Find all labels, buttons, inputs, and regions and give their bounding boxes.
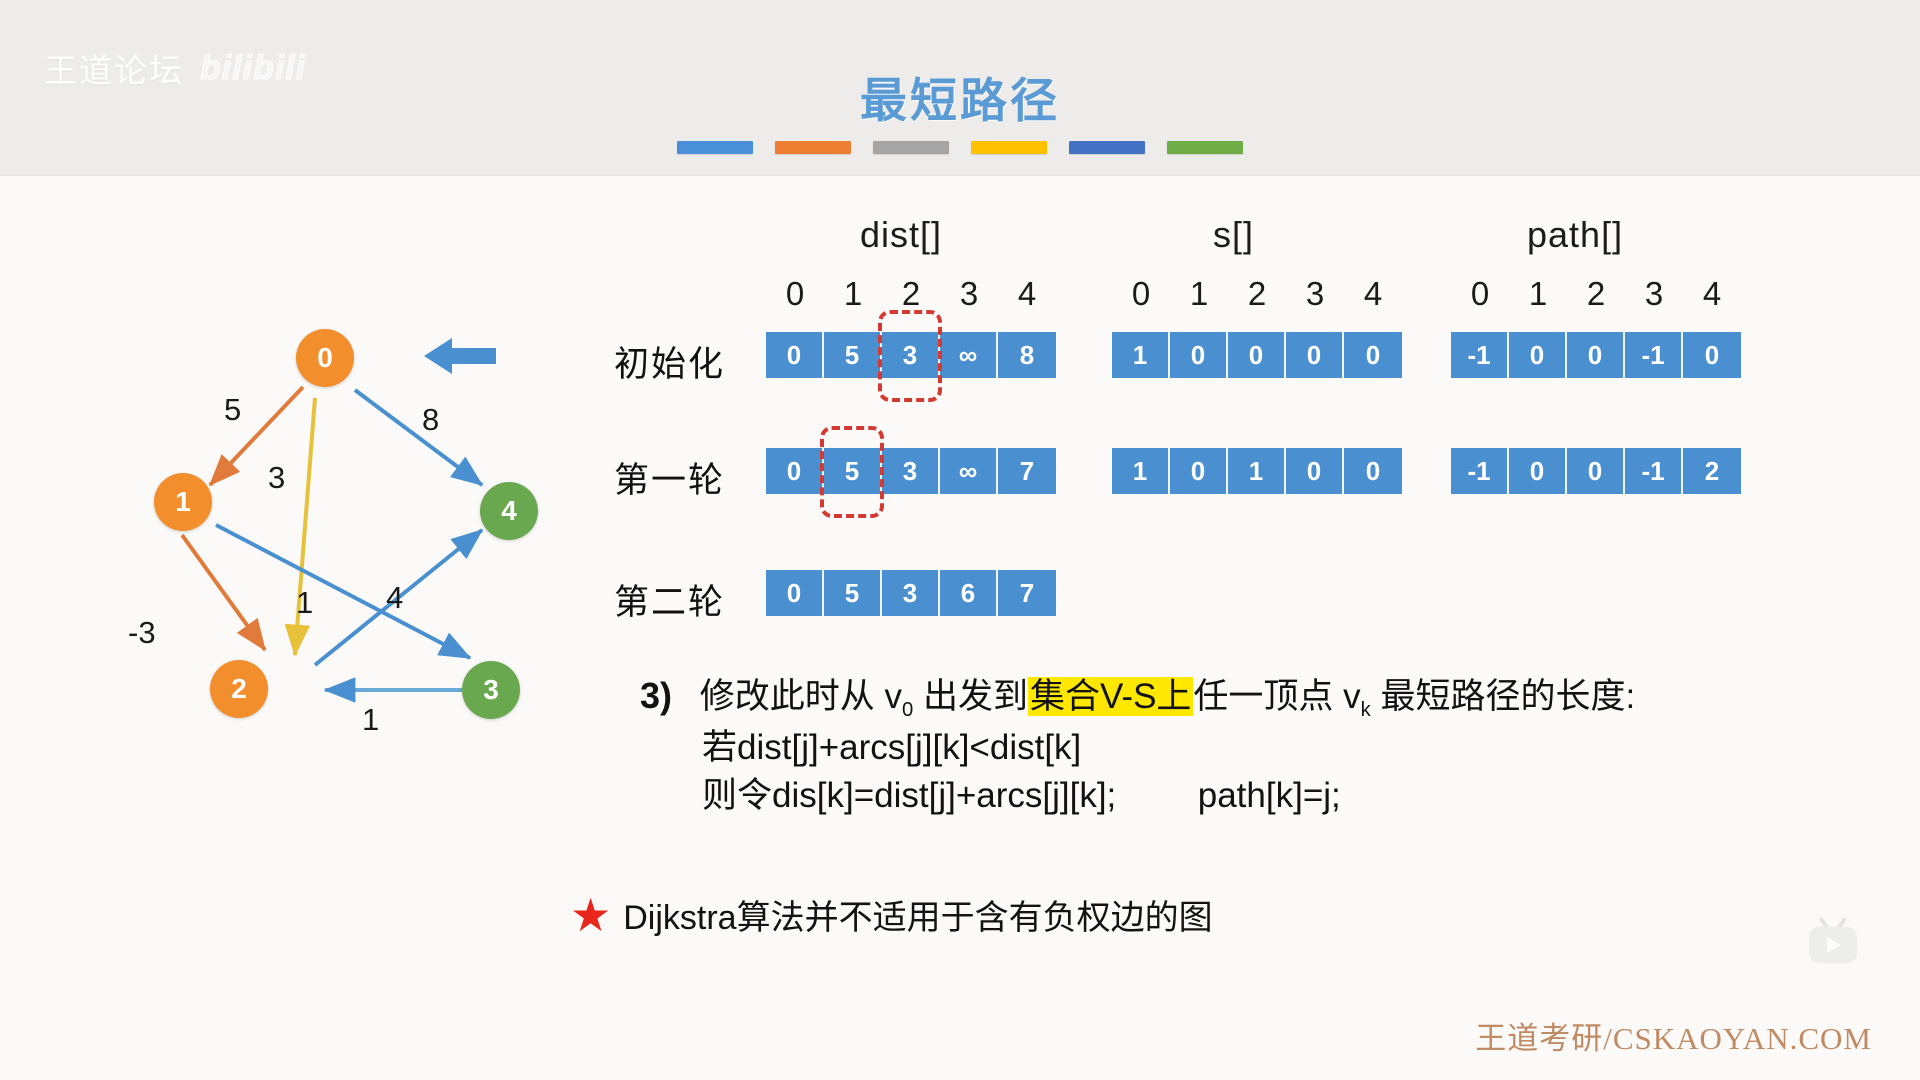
graph-node-1-label: 1 (175, 486, 191, 518)
s-row-round1: 1 0 1 0 0 (1112, 448, 1402, 494)
index-row-s: 0 1 2 3 4 (1112, 275, 1402, 313)
row-label-round2: 第二轮 (614, 574, 725, 625)
graph-node-3-label: 3 (483, 674, 499, 706)
bilibili-play-icon (1802, 914, 1864, 970)
s-round1-cell-0: 1 (1112, 448, 1170, 494)
dist-row-round1: 0 5 3 ∞ 7 (766, 448, 1056, 494)
path-init-cell-3: -1 (1625, 332, 1683, 378)
graph-node-1[interactable]: 1 (154, 473, 212, 531)
graph-node-4[interactable]: 4 (480, 482, 538, 540)
decorative-colorbars (677, 141, 1243, 154)
edge-weight-3-2: 1 (362, 702, 379, 738)
path-round1-cell-2: 0 (1567, 448, 1625, 494)
prose-line1-c: 任一顶点 v (1193, 677, 1360, 716)
s-init-cell-1: 0 (1170, 332, 1228, 378)
index-cell: 4 (998, 275, 1056, 313)
dist-row-round2: 0 5 3 6 7 (766, 570, 1056, 616)
slide-canvas: 王道论坛 bilibili 最短路径 (0, 0, 1920, 1080)
blue-left-arrow-icon (424, 338, 496, 374)
dist-round1-cell-3: ∞ (940, 448, 998, 494)
path-round1-cell-1: 0 (1509, 448, 1567, 494)
index-cell: 0 (766, 275, 824, 313)
prose-line3-b: path[k]=j; (1198, 776, 1341, 815)
path-round1-cell-4: 2 (1683, 448, 1741, 494)
path-init-cell-4: 0 (1683, 332, 1741, 378)
edge-weight-0-2: 3 (268, 460, 285, 496)
index-cell: 0 (1112, 275, 1170, 313)
graph-node-0-label: 0 (317, 342, 333, 374)
prose-sub-k: k (1361, 699, 1371, 721)
dist-round2-cell-0: 0 (766, 570, 824, 616)
dist-round2-cell-3: 6 (940, 570, 998, 616)
index-cell: 4 (1683, 275, 1741, 313)
s-round1-cell-4: 0 (1344, 448, 1402, 494)
warning-note-text: Dijkstra算法并不适用于含有负权边的图 (623, 890, 1212, 939)
colorbar-4 (971, 141, 1047, 154)
path-row-init: -1 0 0 -1 0 (1451, 332, 1741, 378)
colorbar-1 (677, 141, 753, 154)
dist-round2-cell-1: 5 (824, 570, 882, 616)
prose-line1-d: 最短路径的长度: (1371, 677, 1635, 716)
index-cell: 3 (1625, 275, 1683, 313)
index-cell: 1 (824, 275, 882, 313)
edge-weight-1-2: -3 (128, 615, 156, 651)
row-label-round1: 第一轮 (614, 452, 725, 503)
dist-round2-cell-2: 3 (882, 570, 940, 616)
dist-init-cell-4: 8 (998, 332, 1056, 378)
graph-node-3[interactable]: 3 (462, 661, 520, 719)
s-init-cell-3: 0 (1286, 332, 1344, 378)
s-round1-cell-2: 1 (1228, 448, 1286, 494)
watermark-forum-text: 王道论坛 (44, 44, 184, 92)
index-cell: 4 (1344, 275, 1402, 313)
bilibili-logo-icon: bilibili (200, 49, 306, 88)
edge-weight-0-4: 8 (422, 402, 439, 438)
edge-weight-0-1: 5 (224, 392, 241, 428)
path-init-cell-2: 0 (1567, 332, 1625, 378)
colorbar-2 (775, 141, 851, 154)
dist-round1-cell-0: 0 (766, 448, 824, 494)
prose-line1-b: 出发到 (913, 677, 1028, 716)
path-row-round1: -1 0 0 -1 2 (1451, 448, 1741, 494)
dist-round1-cell-4: 7 (998, 448, 1056, 494)
path-init-cell-0: -1 (1451, 332, 1509, 378)
row-label-init: 初始化 (614, 336, 725, 387)
index-row-path: 0 1 2 3 4 (1451, 275, 1741, 313)
graph-edges-svg (100, 330, 660, 850)
table-title-dist: dist[] (860, 214, 942, 256)
footer-brand: 王道考研/CSKAOYAN.COM (1475, 1013, 1872, 1058)
table-title-s: s[] (1213, 214, 1254, 256)
dist-round1-cell-1: 5 (824, 448, 882, 494)
s-init-cell-4: 0 (1344, 332, 1402, 378)
edge-weight-2-4: 4 (386, 580, 403, 616)
prose-step-number: 3) (640, 675, 672, 716)
red-star-icon: ★ (570, 892, 611, 938)
edge-weight-1-3: 1 (296, 585, 313, 621)
warning-note: ★ Dijkstra算法并不适用于含有负权边的图 (570, 890, 1213, 939)
algorithm-step-text: 3) 修改此时从 v0 出发到集合V-S上任一顶点 vk 最短路径的长度: 若d… (640, 672, 1840, 819)
s-round1-cell-1: 0 (1170, 448, 1228, 494)
colorbar-6 (1167, 141, 1243, 154)
index-cell: 1 (1170, 275, 1228, 313)
path-round1-cell-3: -1 (1625, 448, 1683, 494)
graph-node-0[interactable]: 0 (296, 329, 354, 387)
dist-init-cell-0: 0 (766, 332, 824, 378)
index-cell: 3 (940, 275, 998, 313)
index-cell: 2 (882, 275, 940, 313)
index-cell: 3 (1286, 275, 1344, 313)
path-init-cell-1: 0 (1509, 332, 1567, 378)
dist-init-cell-2: 3 (882, 332, 940, 378)
watermark-top-left: 王道论坛 bilibili (44, 44, 306, 92)
dist-row-init: 0 5 3 ∞ 8 (766, 332, 1056, 378)
s-init-cell-0: 1 (1112, 332, 1170, 378)
dist-init-cell-1: 5 (824, 332, 882, 378)
index-cell: 2 (1567, 275, 1625, 313)
graph-node-4-label: 4 (501, 495, 517, 527)
dist-init-cell-3: ∞ (940, 332, 998, 378)
index-cell: 0 (1451, 275, 1509, 313)
prose-line3-a: 则令dis[k]=dist[j]+arcs[j][k]; (702, 776, 1116, 815)
path-round1-cell-0: -1 (1451, 448, 1509, 494)
prose-line-2: 若dist[j]+arcs[j][k]<dist[k] (702, 724, 1840, 771)
dist-round1-cell-2: 3 (882, 448, 940, 494)
s-round1-cell-3: 0 (1286, 448, 1344, 494)
graph-node-2-label: 2 (231, 673, 247, 705)
s-row-init: 1 0 0 0 0 (1112, 332, 1402, 378)
directed-weighted-graph: 0 1 2 3 4 5 3 8 -3 1 4 1 (100, 330, 660, 850)
index-cell: 2 (1228, 275, 1286, 313)
index-cell: 1 (1509, 275, 1567, 313)
colorbar-5 (1069, 141, 1145, 154)
colorbar-3 (873, 141, 949, 154)
table-title-path: path[] (1527, 214, 1623, 256)
index-row-dist: 0 1 2 3 4 (766, 275, 1056, 313)
prose-line-3: 则令dis[k]=dist[j]+arcs[j][k]; path[k]=j; (702, 772, 1840, 819)
prose-highlight-vs: 集合V-S上 (1028, 677, 1193, 716)
dist-round2-cell-4: 7 (998, 570, 1056, 616)
prose-line1-a: 修改此时从 v (700, 677, 902, 716)
prose-line-1: 3) 修改此时从 v0 出发到集合V-S上任一顶点 vk 最短路径的长度: (640, 672, 1840, 724)
graph-node-2[interactable]: 2 (210, 660, 268, 718)
prose-sub-0: 0 (902, 699, 913, 721)
s-init-cell-2: 0 (1228, 332, 1286, 378)
